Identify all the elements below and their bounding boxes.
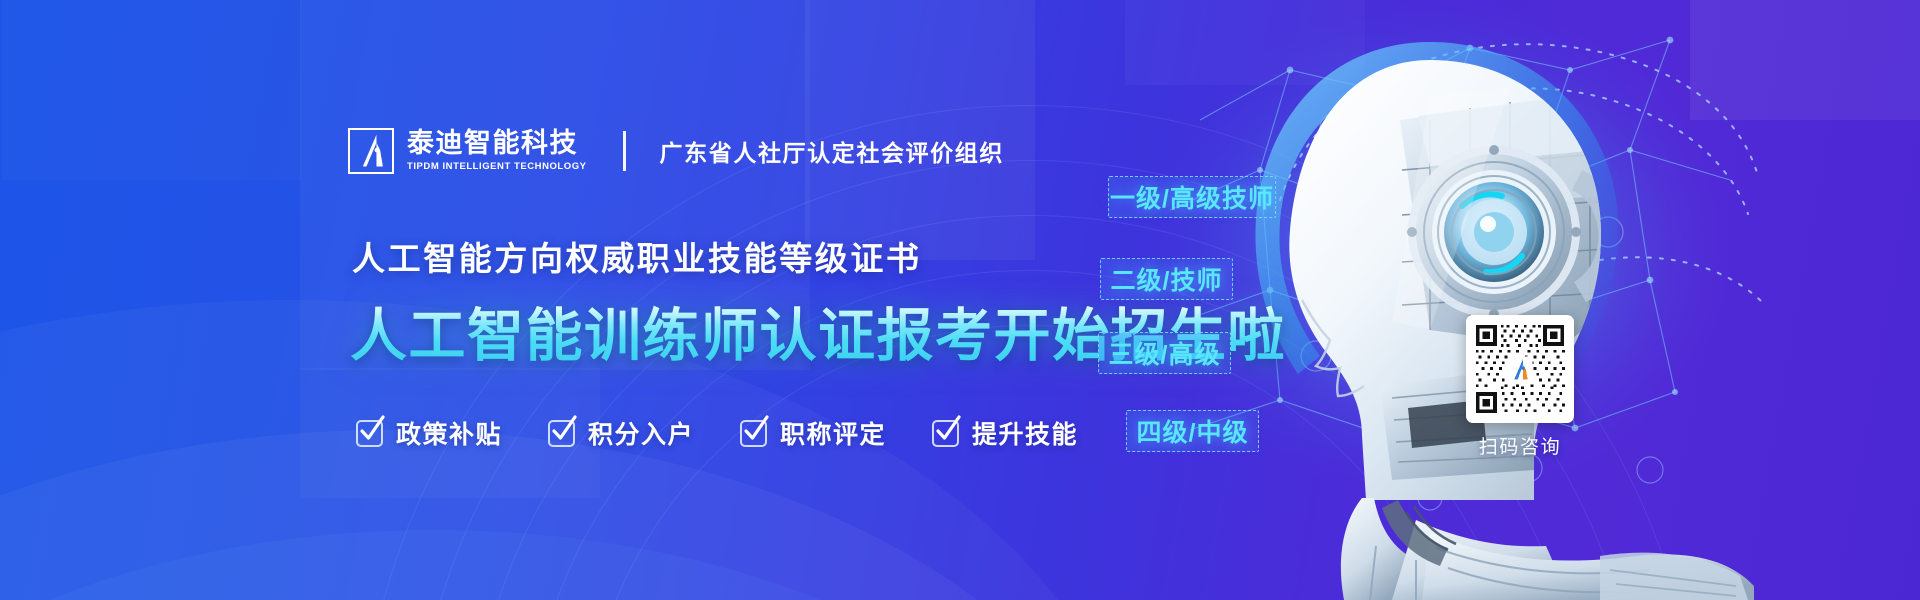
feature-list: 政策补贴 积分入户 职称评定 提升技能 <box>356 415 1078 451</box>
check-box-icon <box>356 420 383 447</box>
promo-banner: 泰迪智能科技 TIPDM INTELLIGENT TECHNOLOGY 广东省人… <box>0 0 1920 600</box>
feature-item-title-evaluation: 职称评定 <box>740 415 886 451</box>
feature-label: 政策补贴 <box>396 415 502 451</box>
feature-label: 积分入户 <box>588 415 694 451</box>
feature-label: 提升技能 <box>972 415 1078 451</box>
level-badge-3[interactable]: 三级/高级 <box>1098 332 1231 374</box>
bg-block-far-left <box>2 0 302 180</box>
bg-block-center-top <box>1125 0 1365 85</box>
check-box-icon <box>740 420 767 447</box>
feature-item-policy-subsidy: 政策补贴 <box>356 415 502 451</box>
brand-name-block: 泰迪智能科技 TIPDM INTELLIGENT TECHNOLOGY <box>407 130 587 172</box>
brand-name-cn: 泰迪智能科技 <box>407 130 587 157</box>
level-badge-4[interactable]: 四级/中级 <box>1126 410 1259 452</box>
qr-code-block[interactable]: 扫码咨询 <box>1466 315 1574 459</box>
brand-header: 泰迪智能科技 TIPDM INTELLIGENT TECHNOLOGY 广东省人… <box>348 128 1004 174</box>
check-box-icon <box>548 420 575 447</box>
level-badge-1[interactable]: 一级/高级技师 <box>1108 176 1276 218</box>
bg-block-right-top <box>1690 0 1920 120</box>
level-badge-2[interactable]: 二级/技师 <box>1100 258 1233 300</box>
header-divider <box>623 131 626 171</box>
check-box-icon <box>932 420 959 447</box>
qr-caption: 扫码咨询 <box>1466 432 1574 459</box>
bg-arc-inner <box>0 530 1110 600</box>
feature-item-points-residency: 积分入户 <box>548 415 694 451</box>
bg-arc-middle <box>0 430 1140 600</box>
org-endorsement: 广东省人社厅认定社会评价组织 <box>660 134 1004 168</box>
hero-subtitle: 人工智能方向权威职业技能等级证书 <box>352 232 922 280</box>
brand-name-en: TIPDM INTELLIGENT TECHNOLOGY <box>407 162 587 172</box>
tipdm-mountain-logo-icon <box>348 128 394 174</box>
feature-label: 职称评定 <box>780 415 886 451</box>
qr-code-icon[interactable] <box>1466 315 1574 423</box>
feature-item-skill-upgrade: 提升技能 <box>932 415 1078 451</box>
